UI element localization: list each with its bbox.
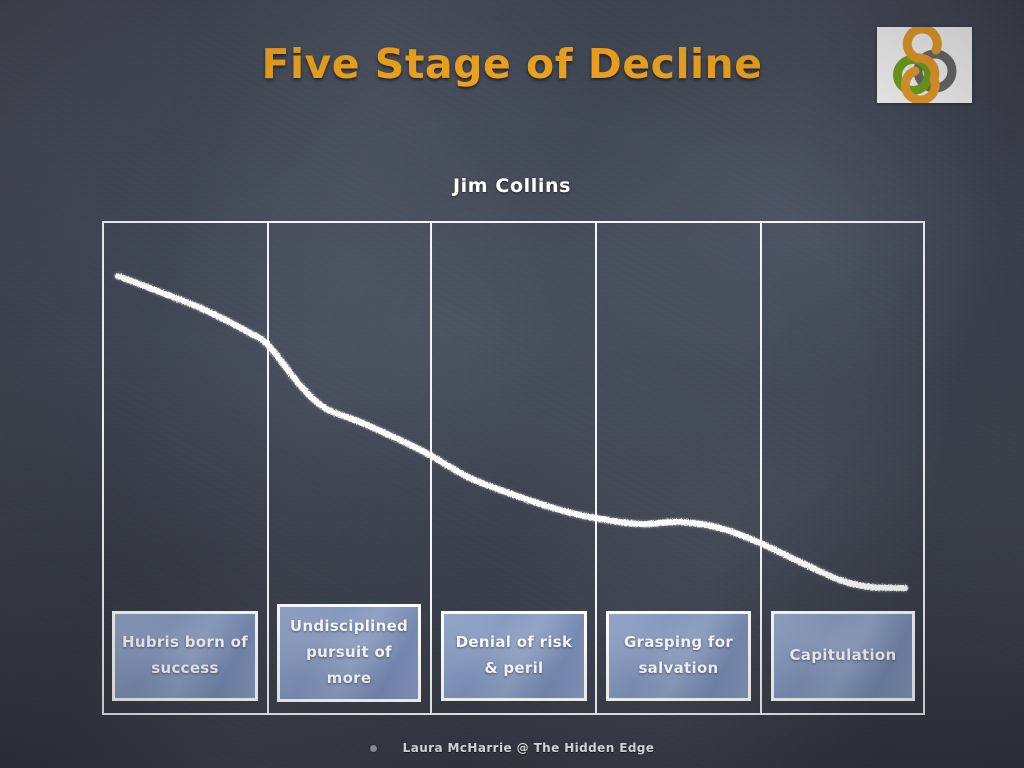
stage-label-3: Denial of risk& peril [456,630,573,682]
stage-divider-2 [430,221,432,715]
logo-rings-icon [877,27,972,103]
stage-divider-1 [267,221,269,715]
footer: Laura McHarrie @ The Hidden Edge [0,741,1024,755]
stage-box-2[interactable]: Undisciplinedpursuit ofmore [277,604,421,702]
stage-divider-3 [595,221,597,715]
footer-credit-text: Laura McHarrie @ The Hidden Edge [403,741,655,755]
page-title: Five Stage of Decline [0,40,1024,88]
slide-canvas: Five Stage of Decline Jim Collins [0,0,1024,768]
stage-box-4[interactable]: Grasping forsalvation [606,611,751,701]
stage-label-5: Capitulation [789,643,896,669]
interlocking-rings-logo [877,27,972,103]
stage-box-1[interactable]: Hubris born ofsuccess [112,611,258,701]
chart-subtitle: Jim Collins [0,175,1024,197]
stage-label-1: Hubris born ofsuccess [122,630,248,682]
stage-box-5[interactable]: Capitulation [771,611,915,701]
footer-bullet-icon [370,745,377,752]
stage-label-2: Undisciplinedpursuit ofmore [290,614,408,691]
stage-divider-4 [760,221,762,715]
stage-box-3[interactable]: Denial of risk& peril [441,611,587,701]
stage-label-4: Grasping forsalvation [624,630,733,682]
